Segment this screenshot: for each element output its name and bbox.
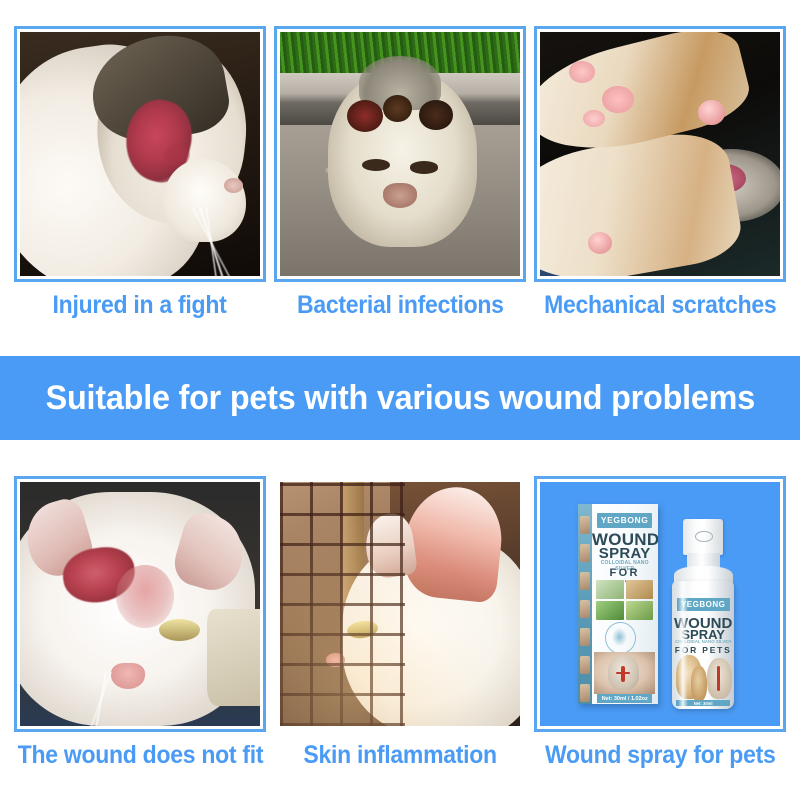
caption-wound-spray-for-pets: Wound spray for pets bbox=[545, 742, 775, 768]
headline-banner-text: Suitable for pets with various wound pro… bbox=[45, 379, 754, 418]
grid-cell-wound-spray-for-pets[interactable]: YEGBONG WOUND SPRAY COLLOIDAL NANO SILVE… bbox=[534, 476, 786, 768]
bottle-net-contents-text: Net: 30ml bbox=[694, 701, 713, 706]
product-box: YEGBONG WOUND SPRAY COLLOIDAL NANO SILVE… bbox=[578, 504, 657, 704]
grid-cell-the-wound-does-not-fit[interactable]: The wound does not fit bbox=[14, 476, 266, 768]
photo-frame-injured-in-a-fight[interactable] bbox=[14, 26, 266, 282]
caption-injured-in-a-fight: Injured in a fight bbox=[53, 292, 227, 318]
photo-mechanical-scratches bbox=[540, 32, 780, 276]
caption-skin-inflammation: Skin inflammation bbox=[303, 742, 496, 768]
photo-bacterial-infections bbox=[280, 32, 520, 276]
photo-frame-wound-spray-for-pets[interactable]: YEGBONG WOUND SPRAY COLLOIDAL NANO SILVE… bbox=[534, 476, 786, 732]
dog-cat-silhouette-icon bbox=[612, 628, 628, 646]
product-infographic: Injured in a fight Bacterial i bbox=[0, 0, 800, 800]
grid-cell-skin-inflammation[interactable]: Skin inflammation bbox=[274, 476, 526, 768]
caption-the-wound-does-not-fit: The wound does not fit bbox=[17, 742, 263, 768]
box-net-contents-badge: Net: 30ml / 1.02oz bbox=[597, 694, 652, 703]
product-bottle: YEGBONG WOUND SPRAY COLLOIDAL NANO SILVE… bbox=[667, 519, 739, 709]
top-photo-row: Injured in a fight Bacterial i bbox=[0, 26, 800, 318]
bottle-body-label: YEGBONG WOUND SPRAY COLLOIDAL NANO SILVE… bbox=[672, 581, 734, 709]
bottom-photo-row: The wound does not fit Skin inflammation bbox=[0, 476, 800, 768]
photo-frame-skin-inflammation[interactable] bbox=[274, 476, 526, 732]
photo-frame-bacterial-infections[interactable] bbox=[274, 26, 526, 282]
headline-banner: Suitable for pets with various wound pro… bbox=[0, 356, 800, 440]
grid-cell-mechanical-scratches[interactable]: Mechanical scratches bbox=[534, 26, 786, 318]
photo-frame-the-wound-does-not-fit[interactable] bbox=[14, 476, 266, 732]
photo-skin-inflammation bbox=[280, 482, 520, 726]
photo-injured-in-a-fight bbox=[20, 32, 260, 276]
photo-frame-mechanical-scratches[interactable] bbox=[534, 26, 786, 282]
product-box-front: YEGBONG WOUND SPRAY COLLOIDAL NANO SILVE… bbox=[592, 504, 658, 704]
product-box-spine bbox=[578, 504, 591, 704]
box-brand-text: YEGBONG bbox=[601, 515, 649, 525]
photo-the-wound-does-not-fit bbox=[20, 482, 260, 726]
box-net-contents-text: Net: 30ml / 1.02oz bbox=[602, 696, 648, 702]
box-paw-photo bbox=[594, 652, 654, 694]
caption-mechanical-scratches: Mechanical scratches bbox=[544, 292, 776, 318]
box-ingredient-thumbnails bbox=[596, 580, 653, 620]
grid-cell-bacterial-infections[interactable]: Bacterial infections bbox=[274, 26, 526, 318]
box-brand-badge: YEGBONG bbox=[597, 513, 652, 528]
bottle-highlight bbox=[678, 581, 688, 709]
grid-cell-injured-in-a-fight[interactable]: Injured in a fight bbox=[14, 26, 266, 318]
photo-product-wound-spray: YEGBONG WOUND SPRAY COLLOIDAL NANO SILVE… bbox=[540, 482, 780, 726]
caption-bacterial-infections: Bacterial infections bbox=[297, 292, 504, 318]
